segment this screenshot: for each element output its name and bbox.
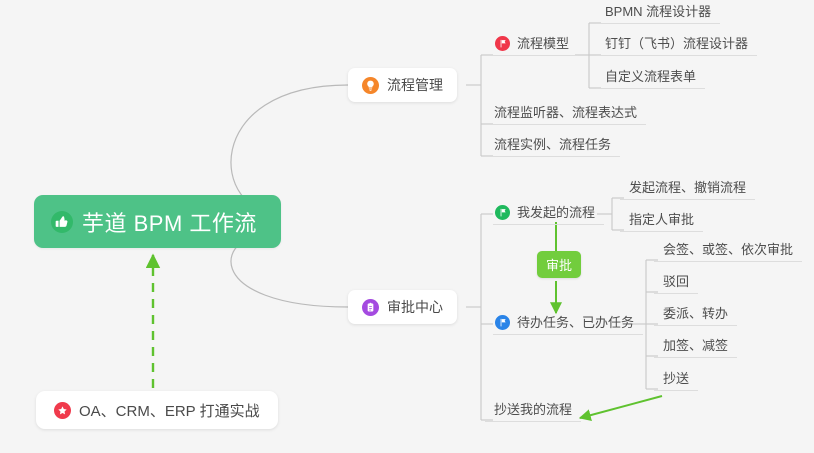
mindmap-canvas: 芋道 BPM 工作流 流程管理 审批中心 OA、CRM、ERP 打通实战: [0, 0, 814, 453]
topic-process-model[interactable]: 流程模型: [493, 30, 578, 56]
topic-label-custom-form: 自定义流程表单: [605, 70, 696, 84]
approval-chip[interactable]: 审批: [537, 251, 581, 278]
branch-card-approval-center[interactable]: 审批中心: [348, 290, 457, 324]
topic-add-remove-sign[interactable]: 加签、减签: [654, 332, 737, 358]
lightbulb-icon: [362, 77, 379, 94]
topic-label-cc: 抄送: [663, 372, 689, 386]
topic-label-add-remove-sign: 加签、减签: [663, 339, 728, 353]
topic-bpmn-designer[interactable]: BPMN 流程设计器: [596, 0, 720, 24]
topic-custom-form[interactable]: 自定义流程表单: [596, 63, 705, 89]
integration-card-label: OA、CRM、ERP 打通实战: [79, 400, 260, 421]
topic-process-listener[interactable]: 流程监听器、流程表达式: [485, 99, 646, 125]
topic-label-start-cancel-process: 发起流程、撤销流程: [629, 181, 746, 195]
topic-label-dingtalk-designer: 钉钉（飞书）流程设计器: [605, 37, 748, 51]
topic-todo-done-tasks[interactable]: 待办任务、已办任务: [493, 309, 643, 335]
topic-label-multi-sign: 会签、或签、依次审批: [663, 243, 793, 257]
topic-label-assignee-approval: 指定人审批: [629, 213, 694, 227]
topic-cc-to-me-process[interactable]: 抄送我的流程: [485, 396, 581, 422]
topic-process-instance[interactable]: 流程实例、流程任务: [485, 131, 620, 157]
topic-label-bpmn-designer: BPMN 流程设计器: [605, 5, 711, 19]
branch-label-process-management: 流程管理: [387, 75, 443, 95]
topic-label-todo-done-tasks: 待办任务、已办任务: [517, 316, 634, 330]
star-icon: [54, 402, 71, 419]
flag-icon-red: [495, 36, 510, 51]
root-label: 芋道 BPM 工作流: [82, 206, 257, 238]
topic-label-cc-to-me-process: 抄送我的流程: [494, 403, 572, 417]
topic-multi-sign[interactable]: 会签、或签、依次审批: [654, 236, 802, 262]
topic-label-process-model: 流程模型: [517, 37, 569, 51]
topic-start-cancel-process[interactable]: 发起流程、撤销流程: [620, 174, 755, 200]
topic-cc[interactable]: 抄送: [654, 365, 698, 391]
topic-my-started-process[interactable]: 我发起的流程: [493, 199, 604, 225]
topic-reject[interactable]: 驳回: [654, 268, 698, 294]
flag-icon-green: [495, 205, 510, 220]
topic-label-process-instance: 流程实例、流程任务: [494, 138, 611, 152]
branch-label-approval-center: 审批中心: [387, 297, 443, 317]
root-node[interactable]: 芋道 BPM 工作流: [34, 195, 281, 248]
flag-icon-blue: [495, 315, 510, 330]
integration-card[interactable]: OA、CRM、ERP 打通实战: [36, 391, 278, 429]
topic-label-reject: 驳回: [663, 275, 689, 289]
topic-delegate-transfer[interactable]: 委派、转办: [654, 300, 737, 326]
clipboard-icon: [362, 299, 379, 316]
topic-assignee-approval[interactable]: 指定人审批: [620, 206, 703, 232]
topic-dingtalk-designer[interactable]: 钉钉（飞书）流程设计器: [596, 30, 757, 56]
topic-label-my-started-process: 我发起的流程: [517, 206, 595, 220]
branch-card-process-management[interactable]: 流程管理: [348, 68, 457, 102]
topic-label-delegate-transfer: 委派、转办: [663, 307, 728, 321]
topic-label-process-listener: 流程监听器、流程表达式: [494, 106, 637, 120]
thumbs-up-icon: [51, 211, 73, 233]
